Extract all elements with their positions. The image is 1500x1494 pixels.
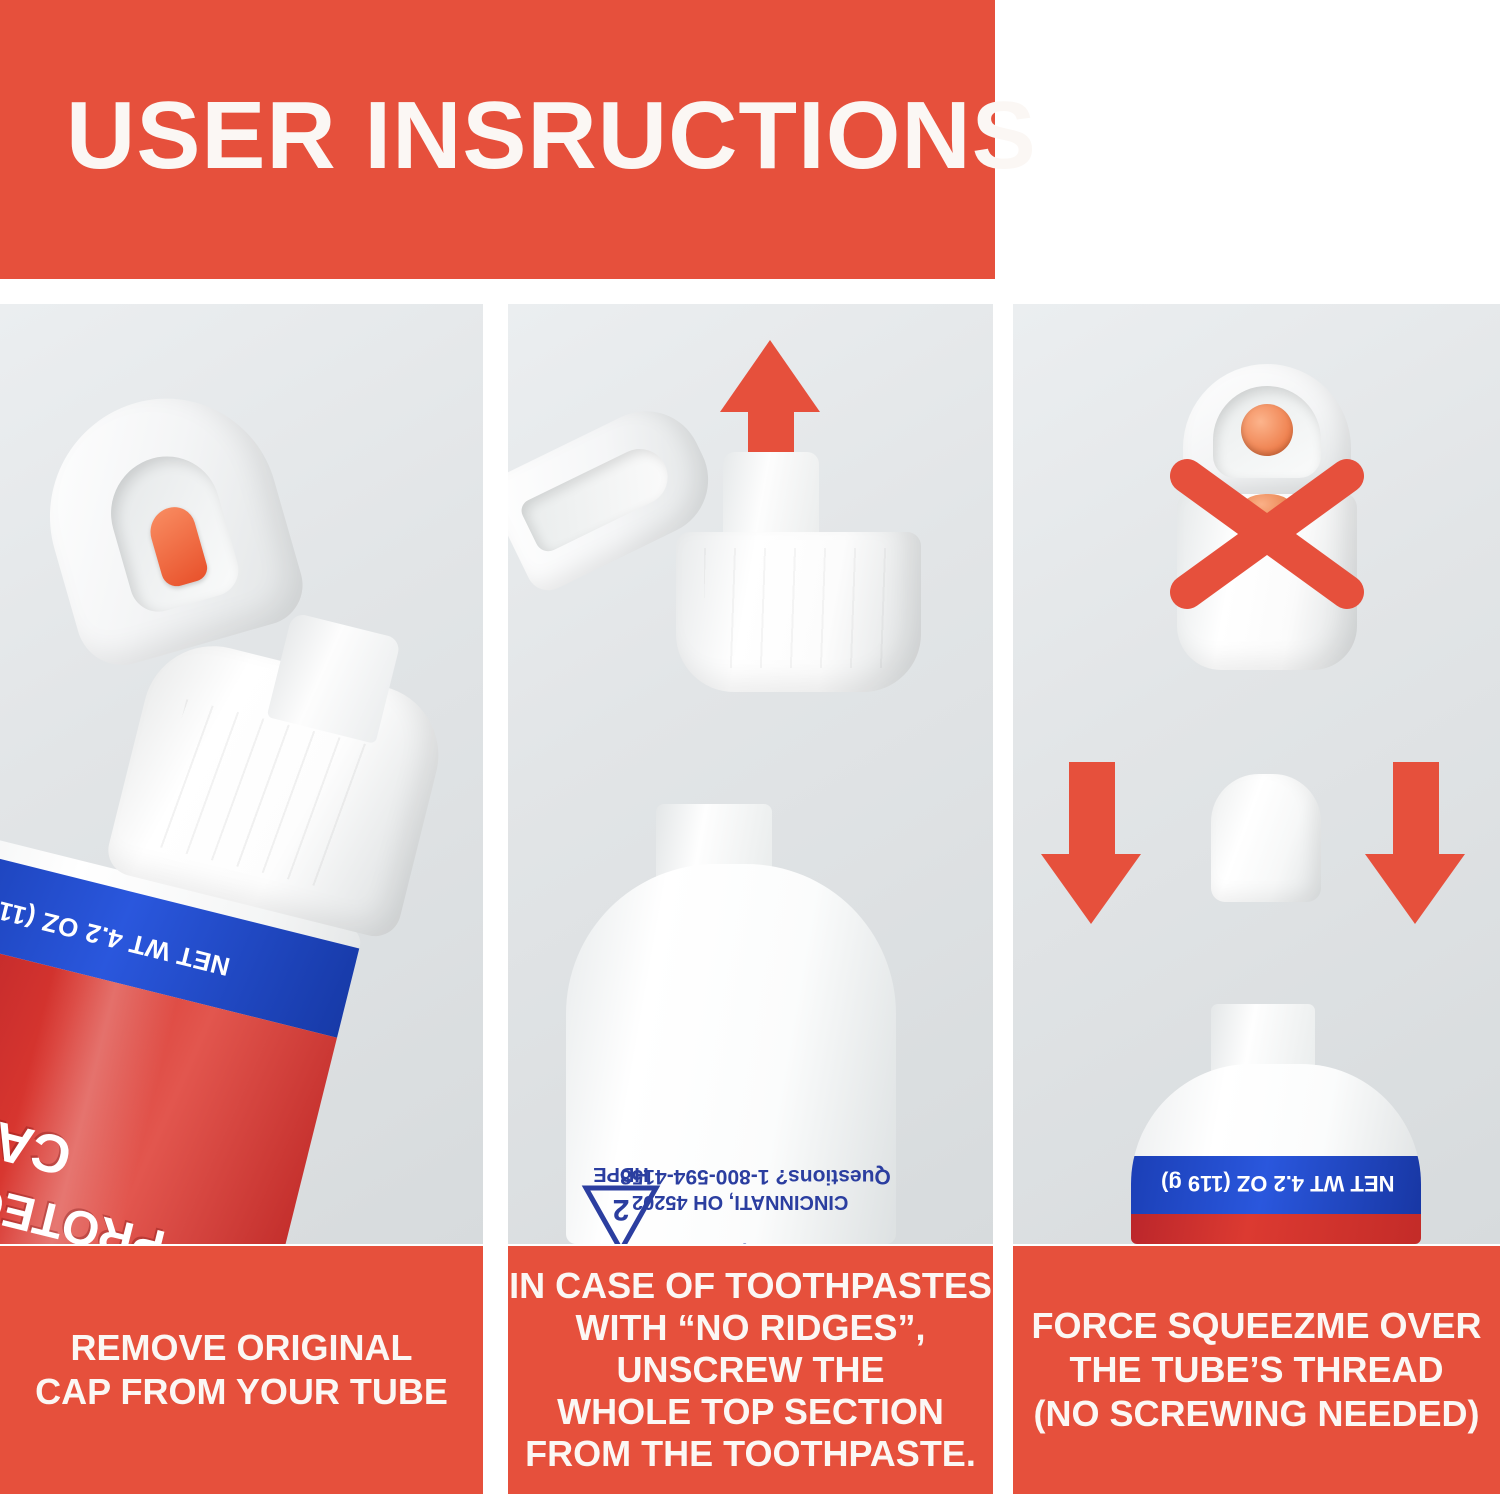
tube-city-text: CINCINNATI, OH 45202: [632, 1190, 848, 1213]
orange-seal: [145, 502, 211, 590]
toothpaste-tube: NET WT 4.2 OZ (119 g): [1131, 1064, 1421, 1244]
cap-spout: [723, 452, 819, 544]
arrow-down-icon-left: [1041, 762, 1141, 922]
flip-lid-inner: [98, 444, 245, 619]
flip-lid-inner: [518, 440, 677, 556]
caption-line: FORCE SQUEEZME OVER: [1031, 1304, 1481, 1348]
orange-seal: [1241, 404, 1293, 456]
header-banner: USER INSRUCTIONS: [0, 0, 995, 279]
caption-text: FORCE SQUEEZME OVER THE TUBE’S THREAD (N…: [1017, 1304, 1495, 1436]
photo-panel-row: NET WT 4.2 OZ (119 g) CAVITY PROTECTION: [0, 304, 1500, 1244]
caption-line: UNSCREW THE: [509, 1349, 992, 1391]
caption-line: CAP FROM YOUR TUBE: [35, 1370, 448, 1414]
squeezme-nozzle: [1211, 774, 1321, 902]
illustration-squeezme-over-thread: NET WT 4.2 OZ (119 g): [1013, 304, 1500, 1244]
caption-line: FROM THE TOOTHPASTE.: [509, 1433, 992, 1475]
arrow-down-head: [1041, 854, 1141, 924]
toothpaste-tube: 2 HDPE Questions? 1-800-594-4158 CINCINN…: [566, 864, 896, 1244]
tube-net-weight-text: NET WT 4.2 OZ (119 g): [1161, 1170, 1394, 1196]
illustration-tube-open-cap: NET WT 4.2 OZ (119 g) CAVITY PROTECTION: [0, 304, 483, 1244]
svg-text:2: 2: [613, 1193, 630, 1226]
caption-line: REMOVE ORIGINAL: [35, 1326, 448, 1370]
cap-ridges: [704, 548, 894, 668]
caption-text: REMOVE ORIGINAL CAP FROM YOUR TUBE: [21, 1326, 462, 1414]
whole-top-section: [676, 532, 921, 692]
tube-red-band: [1131, 1214, 1421, 1244]
caption-line: THE TUBE’S THREAD: [1031, 1348, 1481, 1392]
tube-blue-band: NET WT 4.2 OZ (119 g): [1131, 1156, 1421, 1214]
illustration-cap-unscrewed: 2 HDPE Questions? 1-800-594-4158 CINCINN…: [508, 304, 993, 1244]
caption-line: IN CASE OF TOOTHPASTES: [509, 1265, 992, 1307]
step-2-photo: 2 HDPE Questions? 1-800-594-4158 CINCINN…: [508, 304, 993, 1244]
arrow-down-head: [1365, 854, 1465, 924]
page-title: USER INSRUCTIONS: [66, 86, 966, 186]
x-mark-icon: [1161, 454, 1373, 614]
arrow-down-stem: [1393, 762, 1439, 858]
step-1-photo: NET WT 4.2 OZ (119 g) CAVITY PROTECTION: [0, 304, 483, 1244]
caption-line: WHOLE TOP SECTION: [509, 1391, 992, 1433]
tube-recycle-line-1: This tube is recyclable wherever: [610, 1242, 872, 1244]
step-3-photo: NET WT 4.2 OZ (119 g): [1013, 304, 1500, 1244]
caption-line: WITH “NO RIDGES”,: [509, 1307, 992, 1349]
tube-phone-text: Questions? 1-800-594-4158: [620, 1164, 891, 1188]
arrow-down-stem: [1069, 762, 1115, 858]
arrow-down-icon-right: [1365, 762, 1465, 922]
caption-row: REMOVE ORIGINAL CAP FROM YOUR TUBE IN CA…: [0, 1246, 1500, 1494]
arrow-up-head: [720, 340, 820, 412]
step-2-caption: IN CASE OF TOOTHPASTES WITH “NO RIDGES”,…: [508, 1246, 993, 1494]
infographic-page: USER INSRUCTIONS NET WT 4.2 OZ (119 g) C…: [0, 0, 1500, 1494]
step-3-caption: FORCE SQUEEZME OVER THE TUBE’S THREAD (N…: [1013, 1246, 1500, 1494]
caption-line: (NO SCREWING NEEDED): [1031, 1392, 1481, 1436]
flip-lid-open: [22, 372, 312, 676]
caption-text: IN CASE OF TOOTHPASTES WITH “NO RIDGES”,…: [495, 1265, 1006, 1476]
step-1-caption: REMOVE ORIGINAL CAP FROM YOUR TUBE: [0, 1246, 483, 1494]
